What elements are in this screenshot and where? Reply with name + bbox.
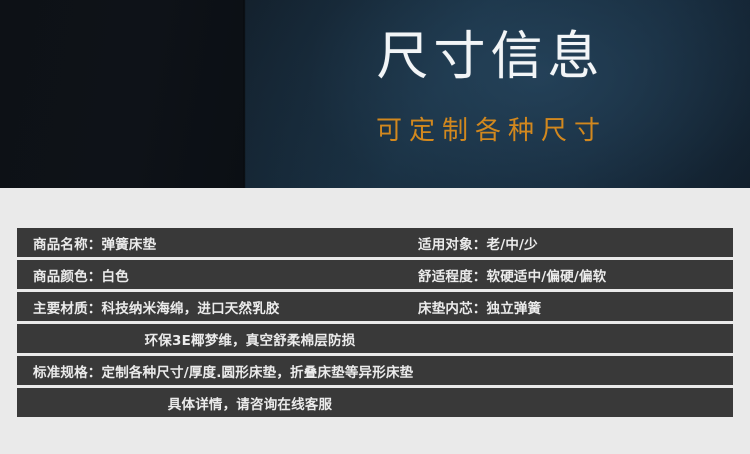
spec-value: 科技纳米海绵，进口天然乳胶 (102, 301, 280, 317)
spec-cell-right: 床垫内芯：独立弹簧 (400, 297, 541, 317)
spec-label: 床垫内芯： (418, 301, 487, 317)
spec-value: 弹簧床垫 (102, 237, 157, 253)
table-row: 具体详情，请咨询在线客服 (17, 388, 733, 417)
spec-cell-left: 主要材质：科技纳米海绵，进口天然乳胶 (17, 297, 400, 317)
hero-title: 尺寸信息 (245, 30, 736, 85)
spec-value: 独立弹簧 (487, 301, 542, 317)
spec-label: 适用对象： (418, 237, 487, 253)
table-row: 商品名称：弹簧床垫 适用对象：老/中/少 (17, 228, 733, 257)
spec-cell-right: 舒适程度：软硬适中/偏硬/偏软 (400, 265, 606, 285)
hero-title-group: 尺寸信息 可定制各种尺寸 (245, 0, 750, 188)
table-row: 环保3E椰梦维，真空舒柔棉层防损 (17, 324, 733, 353)
hero-banner: 尺寸信息 可定制各种尺寸 (0, 0, 750, 188)
spec-value: 老/中/少 (487, 237, 538, 253)
spec-table: 商品名称：弹簧床垫 适用对象：老/中/少 商品颜色：白色 舒适程度：软硬适中/偏… (17, 228, 733, 417)
spec-cell-center: 环保3E椰梦维，真空舒柔棉层防损 (17, 329, 733, 349)
spec-value: 定制各种尺寸/厚度.圆形床垫，折叠床垫等异形床垫 (102, 365, 414, 381)
spec-label: 舒适程度： (418, 269, 487, 285)
spec-label: 主要材质： (33, 301, 102, 317)
spec-section: 商品名称：弹簧床垫 适用对象：老/中/少 商品颜色：白色 舒适程度：软硬适中/偏… (0, 188, 750, 454)
table-row: 商品颜色：白色 舒适程度：软硬适中/偏硬/偏软 (17, 260, 733, 289)
spec-value: 白色 (102, 269, 129, 285)
spec-label: 标准规格： (33, 365, 102, 381)
spec-cell-full: 标准规格：定制各种尺寸/厚度.圆形床垫，折叠床垫等异形床垫 (17, 361, 413, 381)
product-spec-banner: 尺寸信息 可定制各种尺寸 商品名称：弹簧床垫 适用对象：老/中/少 商品颜色：白… (0, 0, 750, 454)
spec-cell-right: 适用对象：老/中/少 (400, 233, 538, 253)
spec-label: 商品名称： (33, 237, 102, 253)
spec-cell-center: 具体详情，请咨询在线客服 (17, 393, 733, 413)
hero-subtitle: 可定制各种尺寸 (245, 110, 738, 147)
spec-cell-left: 商品颜色：白色 (17, 265, 400, 285)
spec-label: 商品颜色： (33, 269, 102, 285)
table-row: 标准规格：定制各种尺寸/厚度.圆形床垫，折叠床垫等异形床垫 (17, 356, 733, 385)
hero-left-panel (0, 0, 245, 188)
spec-cell-left: 商品名称：弹簧床垫 (17, 233, 400, 253)
table-row: 主要材质：科技纳米海绵，进口天然乳胶 床垫内芯：独立弹簧 (17, 292, 733, 321)
spec-value: 软硬适中/偏硬/偏软 (487, 269, 607, 285)
